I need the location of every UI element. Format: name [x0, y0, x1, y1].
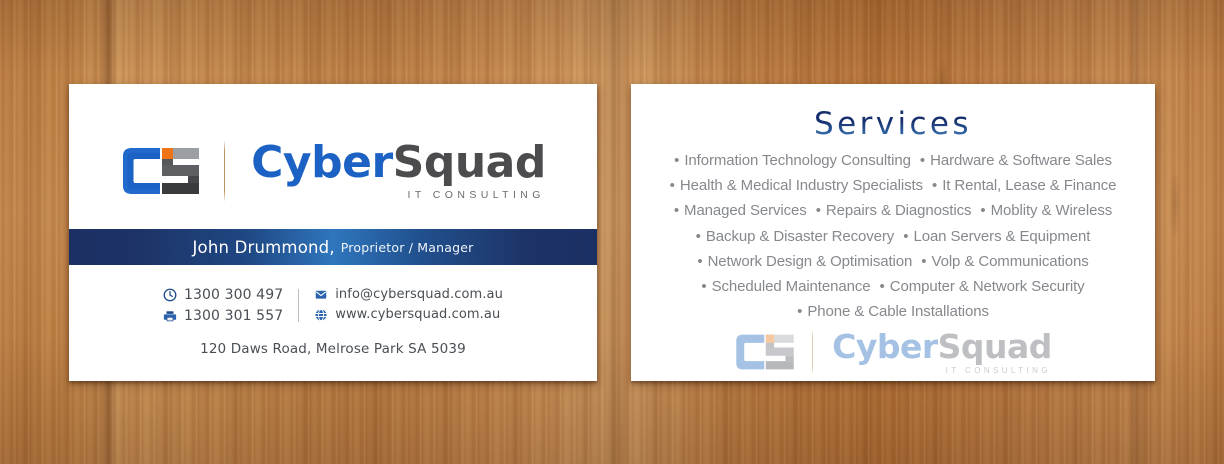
wordmark-back: CyberSquad IT CONSULTING [832, 330, 1052, 375]
contact-row-fax[interactable]: 1300 301 557 [163, 308, 283, 324]
postal-address: 120 Daws Road, Melrose Park SA 5039 [69, 341, 597, 357]
cs-monogram-icon [120, 146, 202, 196]
services-heading: Services [631, 106, 1155, 142]
monogram-s-stem-lower-faded [786, 356, 794, 361]
wordmark-tagline-back: IT CONSULTING [946, 366, 1051, 375]
bullet-icon: • [701, 278, 710, 295]
monogram-s-stem-lower [188, 176, 199, 183]
name-bar: John Drummond, Proprietor / Manager [69, 229, 597, 265]
service-line: • Managed Services• Repairs & Diagnostic… [643, 198, 1143, 223]
contact-person-name: John Drummond, [192, 238, 334, 257]
service-line: • Information Technology Consulting• Har… [643, 148, 1143, 173]
service-item-label: Network Design & Optimisation [708, 253, 913, 270]
wordmark-squad-back: Squad [938, 327, 1052, 366]
bullet-icon: • [670, 177, 679, 194]
services-list: • Information Technology Consulting• Har… [643, 148, 1143, 324]
wordmark-front: CyberSquad IT CONSULTING [251, 141, 546, 201]
bullet-icon: • [696, 228, 705, 245]
business-card-back[interactable]: Services • Information Technology Consul… [631, 84, 1155, 381]
email-address: info@cybersquad.com.au [335, 287, 503, 302]
monogram-s-cap-bl [162, 183, 169, 194]
service-item-label: Managed Services [684, 202, 807, 219]
monogram-orange-accent [162, 148, 173, 159]
contact-row-website[interactable]: www.cybersquad.com.au [314, 307, 500, 322]
service-item-label: Repairs & Diagnostics [826, 202, 971, 219]
service-item-label: Health & Medical Industry Specialists [680, 177, 923, 194]
service-item-label: Information Technology Consulting [684, 152, 911, 169]
bullet-icon: • [903, 228, 912, 245]
business-card-scene: CyberSquad IT CONSULTING John Drummond, … [0, 0, 1224, 464]
service-item-label: It Rental, Lease & Finance [942, 177, 1116, 194]
bullet-icon: • [697, 253, 706, 270]
wordmark-squad: Squad [393, 137, 546, 188]
bullet-icon: • [932, 177, 941, 194]
wordmark-cyber: Cyber [251, 137, 393, 188]
bullet-icon: • [797, 303, 806, 320]
fax-number: 1300 301 557 [184, 308, 283, 324]
service-item-label: Hardware & Software Sales [930, 152, 1112, 169]
website-url: www.cybersquad.com.au [335, 307, 500, 322]
contact-column-phone: 1300 300 497 1300 301 557 [163, 287, 283, 324]
monogram-s-bottom-faded [766, 361, 794, 369]
service-item-label: Backup & Disaster Recovery [706, 228, 894, 245]
monogram-c-shape [123, 148, 160, 194]
service-item-label: Phone & Cable Installations [807, 303, 989, 320]
cs-monogram-icon-faded [734, 333, 796, 371]
bullet-icon: • [879, 278, 888, 295]
service-line: • Health & Medical Industry Specialists•… [643, 173, 1143, 198]
contact-block: 1300 300 497 1300 301 557 [69, 287, 597, 324]
contact-person-role: Proprietor / Manager [341, 240, 474, 255]
service-item-label: Moblity & Wireless [991, 202, 1113, 219]
wordmark-text: CyberSquad [251, 141, 546, 185]
service-item-label: Scheduled Maintenance [712, 278, 871, 295]
monogram-s-mid-faded [766, 347, 794, 355]
wordmark-text-back: CyberSquad [832, 330, 1052, 363]
phone-number: 1300 300 497 [184, 287, 283, 303]
bullet-icon: • [674, 202, 683, 219]
logo-divider-back [812, 329, 813, 375]
wordmark-cyber-back: Cyber [832, 327, 938, 366]
contact-divider [298, 289, 299, 322]
service-item-label: Volp & Communications [932, 253, 1089, 270]
contact-row-phone[interactable]: 1300 300 497 [163, 287, 283, 303]
bullet-icon: • [674, 152, 683, 169]
envelope-icon [314, 288, 328, 302]
logo-lockup-front: CyberSquad IT CONSULTING [127, 137, 539, 205]
fax-icon [163, 309, 177, 323]
logo-divider [224, 140, 225, 202]
cs-monogram-svg-faded [734, 333, 796, 371]
service-line: • Network Design & Optimisation• Volp & … [643, 249, 1143, 274]
wordmark-tagline: IT CONSULTING [408, 189, 545, 201]
bullet-icon: • [921, 253, 930, 270]
phone-icon [163, 288, 177, 302]
bullet-icon: • [920, 152, 929, 169]
monogram-s-mid [162, 165, 199, 176]
logo-lockup-back: CyberSquad IT CONSULTING [738, 327, 1048, 377]
contact-column-online: info@cybersquad.com.au www.cybersquad.co… [314, 287, 503, 322]
monogram-orange-accent-faded [766, 335, 774, 343]
monogram-c-shape-faded [736, 335, 764, 370]
bullet-icon: • [816, 202, 825, 219]
service-line: • Scheduled Maintenance• Computer & Netw… [643, 274, 1143, 299]
globe-icon [314, 308, 328, 322]
contact-row-email[interactable]: info@cybersquad.com.au [314, 287, 503, 302]
service-line: • Phone & Cable Installations [643, 299, 1143, 324]
service-line: • Backup & Disaster Recovery• Loan Serve… [643, 224, 1143, 249]
service-item-label: Loan Servers & Equipment [913, 228, 1090, 245]
cs-monogram-svg [120, 146, 202, 196]
business-card-front[interactable]: CyberSquad IT CONSULTING John Drummond, … [69, 84, 597, 381]
service-item-label: Computer & Network Security [890, 278, 1085, 295]
bullet-icon: • [980, 202, 989, 219]
